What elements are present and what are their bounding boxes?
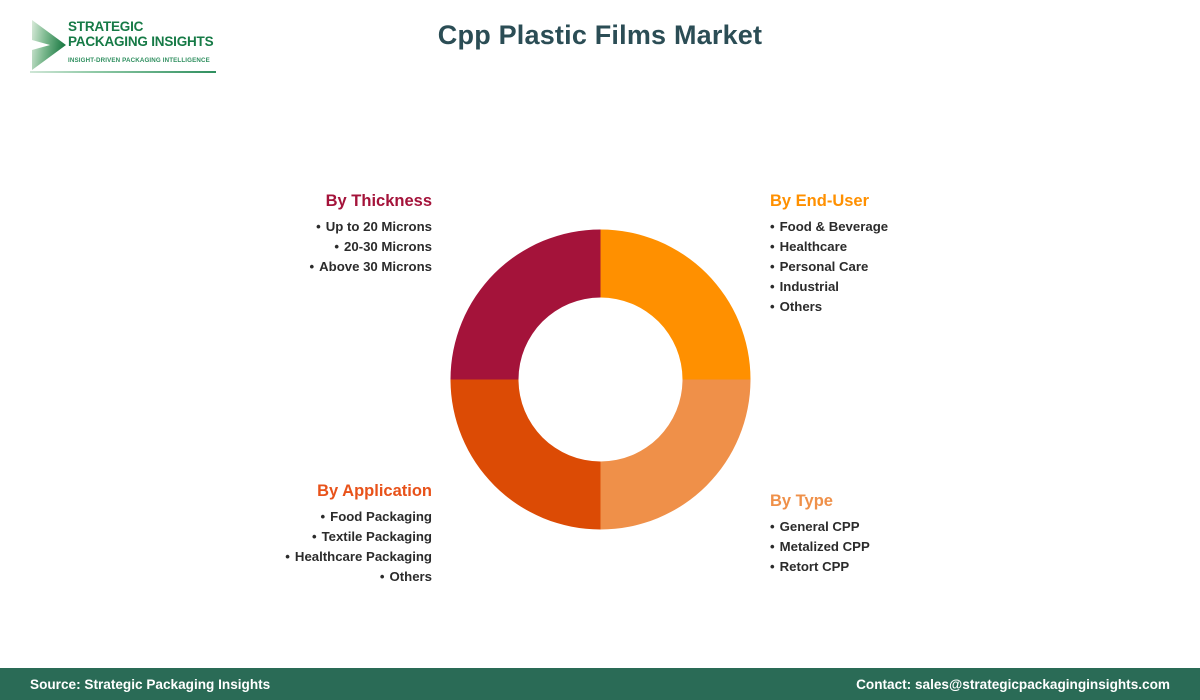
logo-tagline: INSIGHT-DRIVEN PACKAGING INTELLIGENCE: [68, 57, 228, 64]
footer-bar: Source: Strategic Packaging Insights Con…: [0, 668, 1200, 700]
list-item: Metalized CPP: [770, 537, 990, 557]
footer-contact: Contact: sales@strategicpackaginginsight…: [856, 677, 1170, 692]
segment-list-application: Food Packaging Textile Packaging Healthc…: [210, 507, 432, 587]
list-item: Industrial: [770, 277, 990, 297]
list-item: General CPP: [770, 517, 990, 537]
list-item: Healthcare: [770, 237, 990, 257]
logo-underline-divider: [30, 71, 216, 73]
list-item: Food Packaging: [210, 507, 432, 527]
donut-segment-application: [451, 380, 601, 530]
segment-heading-type: By Type: [770, 492, 990, 511]
list-item: Personal Care: [770, 257, 990, 277]
list-item: Retort CPP: [770, 557, 990, 577]
segment-list-enduser: Food & Beverage Healthcare Personal Care…: [770, 217, 990, 317]
segment-list-type: General CPP Metalized CPP Retort CPP: [770, 517, 990, 577]
donut-segment-thickness: [451, 230, 601, 380]
donut-chart: [450, 229, 751, 530]
segment-group-thickness: By Thickness Up to 20 Microns 20-30 Micr…: [230, 192, 432, 277]
footer-source: Source: Strategic Packaging Insights: [30, 677, 270, 692]
segment-heading-application: By Application: [210, 482, 432, 501]
list-item: Healthcare Packaging: [210, 547, 432, 567]
segment-group-enduser: By End-User Food & Beverage Healthcare P…: [770, 192, 990, 317]
list-item: Others: [210, 567, 432, 587]
segment-heading-enduser: By End-User: [770, 192, 990, 211]
list-item: Food & Beverage: [770, 217, 990, 237]
segment-group-type: By Type General CPP Metalized CPP Retort…: [770, 492, 990, 577]
donut-segment-enduser: [601, 230, 751, 380]
page-title: Cpp Plastic Films Market: [0, 20, 1200, 51]
segment-list-thickness: Up to 20 Microns 20-30 Microns Above 30 …: [230, 217, 432, 277]
list-item: 20-30 Microns: [230, 237, 432, 257]
segment-group-application: By Application Food Packaging Textile Pa…: [210, 482, 432, 587]
list-item: Textile Packaging: [210, 527, 432, 547]
list-item: Others: [770, 297, 990, 317]
list-item: Up to 20 Microns: [230, 217, 432, 237]
list-item: Above 30 Microns: [230, 257, 432, 277]
segment-heading-thickness: By Thickness: [230, 192, 432, 211]
donut-segment-type: [601, 380, 751, 530]
